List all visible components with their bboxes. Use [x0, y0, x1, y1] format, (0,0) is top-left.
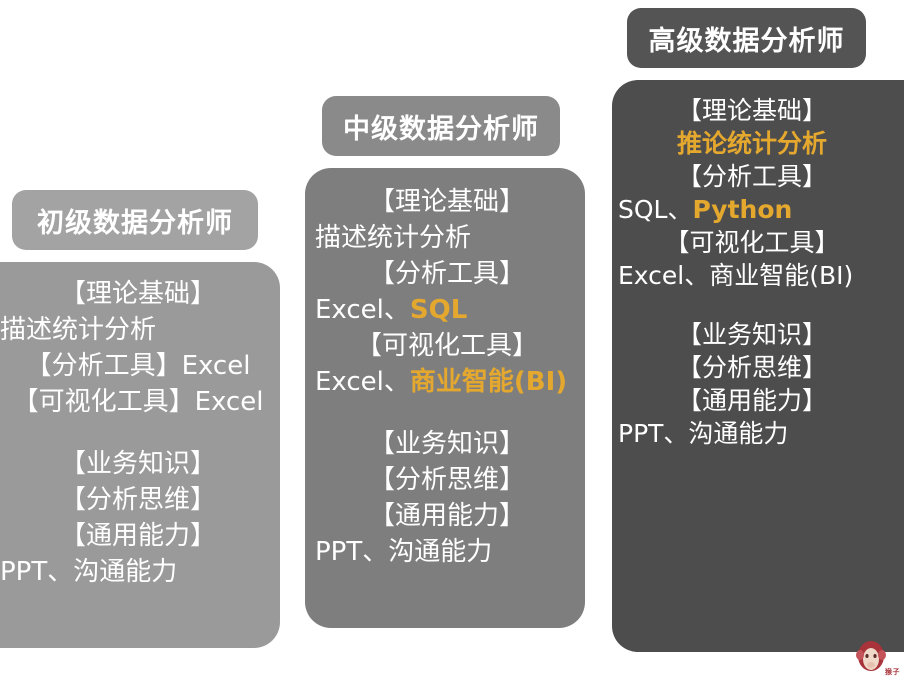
- skill-text: 【通用能力】: [677, 386, 827, 415]
- skill-highlight: 推论统计分析: [677, 129, 827, 158]
- skill-text: 【分析工具】: [369, 259, 525, 289]
- skill-text: PPT、沟通能力: [0, 557, 177, 587]
- skill-text: 【可视化工具】: [664, 228, 839, 257]
- skill-line: 【通用能力】: [618, 384, 886, 417]
- skill-line: Excel、SQL: [315, 292, 579, 328]
- skill-text: Excel、: [315, 367, 410, 397]
- level-panel-intermediate: 【理论基础】描述统计分析【分析工具】Excel、SQL【可视化工具】Excel、…: [305, 168, 585, 628]
- level-panel-senior: 【理论基础】推论统计分析【分析工具】SQL、Python【可视化工具】Excel…: [612, 80, 904, 652]
- skill-line: 【业务知识】: [0, 446, 276, 482]
- skill-highlight: 商业智能(BI): [410, 367, 567, 397]
- skill-text: 描述统计分析: [315, 223, 471, 253]
- skill-text: 【业务知识】: [369, 429, 525, 459]
- skill-line: 【可视化工具】: [618, 226, 886, 259]
- skill-line: 【通用能力】: [315, 498, 579, 534]
- watermark-label: 猴子: [885, 667, 900, 677]
- level-panel-junior: 【理论基础】描述统计分析【分析工具】Excel【可视化工具】Excel【业务知识…: [0, 262, 280, 648]
- level-badge-intermediate: 中级数据分析师: [322, 96, 560, 156]
- skill-text: PPT、沟通能力: [315, 537, 492, 567]
- skill-text: 【可视化工具】: [356, 331, 538, 361]
- watermark: 猴子: [856, 640, 900, 678]
- skill-text: 【理论基础】: [369, 187, 525, 217]
- skill-line: 【通用能力】: [0, 518, 276, 554]
- skill-line: 【分析思维】: [315, 462, 579, 498]
- skill-line: Excel、商业智能(BI): [315, 364, 579, 400]
- skill-text: Excel、商业智能(BI): [618, 261, 853, 290]
- skill-line: Excel、商业智能(BI): [618, 259, 886, 292]
- skill-list-junior: 【理论基础】描述统计分析【分析工具】Excel【可视化工具】Excel【业务知识…: [0, 262, 280, 590]
- skill-line: 【分析思维】: [618, 351, 886, 384]
- skill-highlight: Python: [692, 195, 792, 224]
- skill-text: PPT、沟通能力: [618, 419, 788, 448]
- skill-line: 推论统计分析: [618, 127, 886, 160]
- skill-list-senior: 【理论基础】推论统计分析【分析工具】SQL、Python【可视化工具】Excel…: [612, 80, 904, 450]
- skill-line-spacer: [0, 420, 276, 446]
- level-badge-junior: 初级数据分析师: [12, 190, 258, 250]
- skill-line: 【可视化工具】: [315, 328, 579, 364]
- skill-line: 【可视化工具】Excel: [0, 384, 276, 420]
- skill-list-intermediate: 【理论基础】描述统计分析【分析工具】Excel、SQL【可视化工具】Excel、…: [305, 168, 585, 570]
- skill-line: 【分析工具】: [315, 256, 579, 292]
- skill-text: SQL、: [618, 195, 692, 224]
- skill-text: 【可视化工具】Excel: [13, 387, 264, 417]
- skill-line: PPT、沟通能力: [315, 534, 579, 570]
- skill-text: 【理论基础】: [677, 96, 827, 125]
- skill-text: Excel、: [315, 295, 410, 325]
- skill-line: 【业务知识】: [315, 426, 579, 462]
- skill-line: 【理论基础】: [0, 276, 276, 312]
- skill-text: 【理论基础】: [60, 279, 216, 309]
- skill-text: 【分析思维】: [369, 465, 525, 495]
- skill-text: 描述统计分析: [0, 315, 156, 345]
- levels-board: 初级数据分析师 【理论基础】描述统计分析【分析工具】Excel【可视化工具】Ex…: [0, 0, 904, 678]
- skill-line: 【理论基础】: [315, 184, 579, 220]
- skill-line-spacer: [618, 292, 886, 318]
- level-badge-senior: 高级数据分析师: [627, 8, 866, 68]
- skill-line: 【理论基础】: [618, 94, 886, 127]
- skill-text: 【分析思维】: [677, 353, 827, 382]
- skill-line-spacer: [315, 400, 579, 426]
- skill-text: 【业务知识】: [60, 449, 216, 479]
- skill-line: 【分析工具】: [618, 160, 886, 193]
- skill-line: 【分析思维】: [0, 482, 276, 518]
- skill-text: 【通用能力】: [369, 501, 525, 531]
- skill-line: 【业务知识】: [618, 318, 886, 351]
- skill-line: PPT、沟通能力: [618, 417, 886, 450]
- skill-text: 【分析工具】: [677, 162, 827, 191]
- skill-line: PPT、沟通能力: [0, 554, 276, 590]
- monkey-face-icon: [856, 640, 886, 672]
- skill-line: 描述统计分析: [315, 220, 579, 256]
- skill-text: 【分析工具】Excel: [26, 351, 251, 381]
- skill-highlight: SQL: [410, 295, 467, 325]
- skill-line: 【分析工具】Excel: [0, 348, 276, 384]
- skill-line: SQL、Python: [618, 193, 886, 226]
- skill-text: 【通用能力】: [60, 521, 216, 551]
- skill-text: 【业务知识】: [677, 320, 827, 349]
- skill-line: 描述统计分析: [0, 312, 276, 348]
- skill-text: 【分析思维】: [60, 485, 216, 515]
